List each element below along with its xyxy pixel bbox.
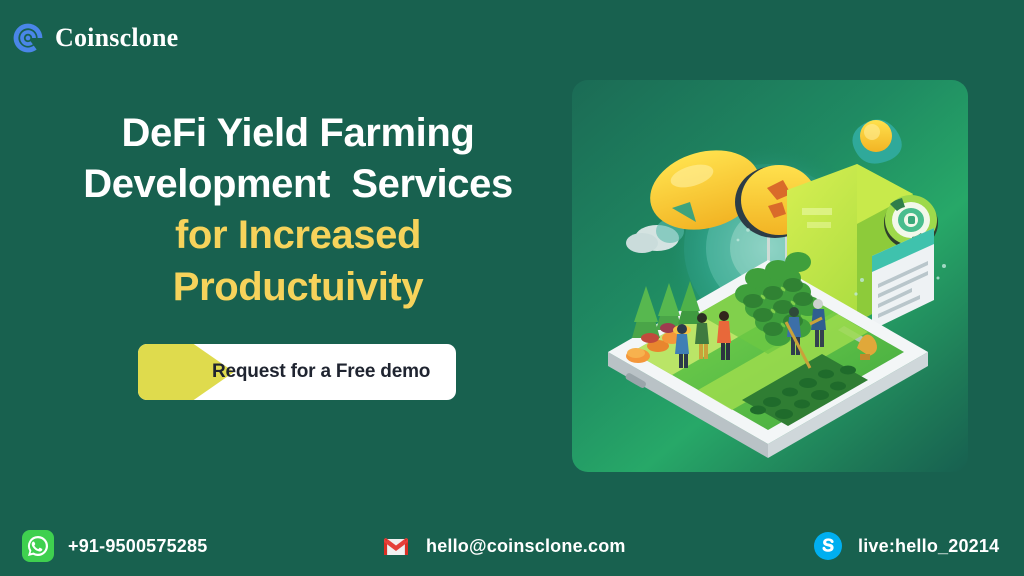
isometric-defi-yield-farming-illustration [572, 80, 968, 472]
skype-icon [812, 530, 844, 562]
gmail-icon [380, 530, 412, 562]
headline-line-3: for Increased [38, 210, 558, 261]
cta-label: Request for a Free demo [212, 361, 430, 383]
brand-logo[interactable]: Coinsclone [10, 20, 178, 56]
coinsclone-circle-logo-icon [10, 20, 46, 56]
coin-leaf-badge [852, 119, 901, 163]
request-free-demo-button[interactable]: Request for a Free demo [138, 344, 456, 400]
headline-block: DeFi Yield Farming Development Services … [38, 108, 558, 313]
skype-handle: live:hello_20214 [858, 536, 999, 557]
headline-line-4: Productuivity [38, 262, 558, 313]
brand-name: Coinsclone [55, 23, 178, 53]
whatsapp-icon [22, 530, 54, 562]
headline-line-1: DeFi Yield Farming [38, 108, 558, 159]
headline-line-2: Development Services [38, 159, 558, 210]
whatsapp-number: +91-9500575285 [68, 536, 207, 557]
contact-email[interactable]: hello@coinsclone.com [380, 530, 626, 562]
contact-whatsapp[interactable]: +91-9500575285 [22, 530, 207, 562]
contact-skype[interactable]: live:hello_20214 [812, 530, 999, 562]
email-address: hello@coinsclone.com [426, 536, 626, 557]
promotional-banner: Coinsclone DeFi Yield Farming Developmen… [0, 0, 1024, 576]
